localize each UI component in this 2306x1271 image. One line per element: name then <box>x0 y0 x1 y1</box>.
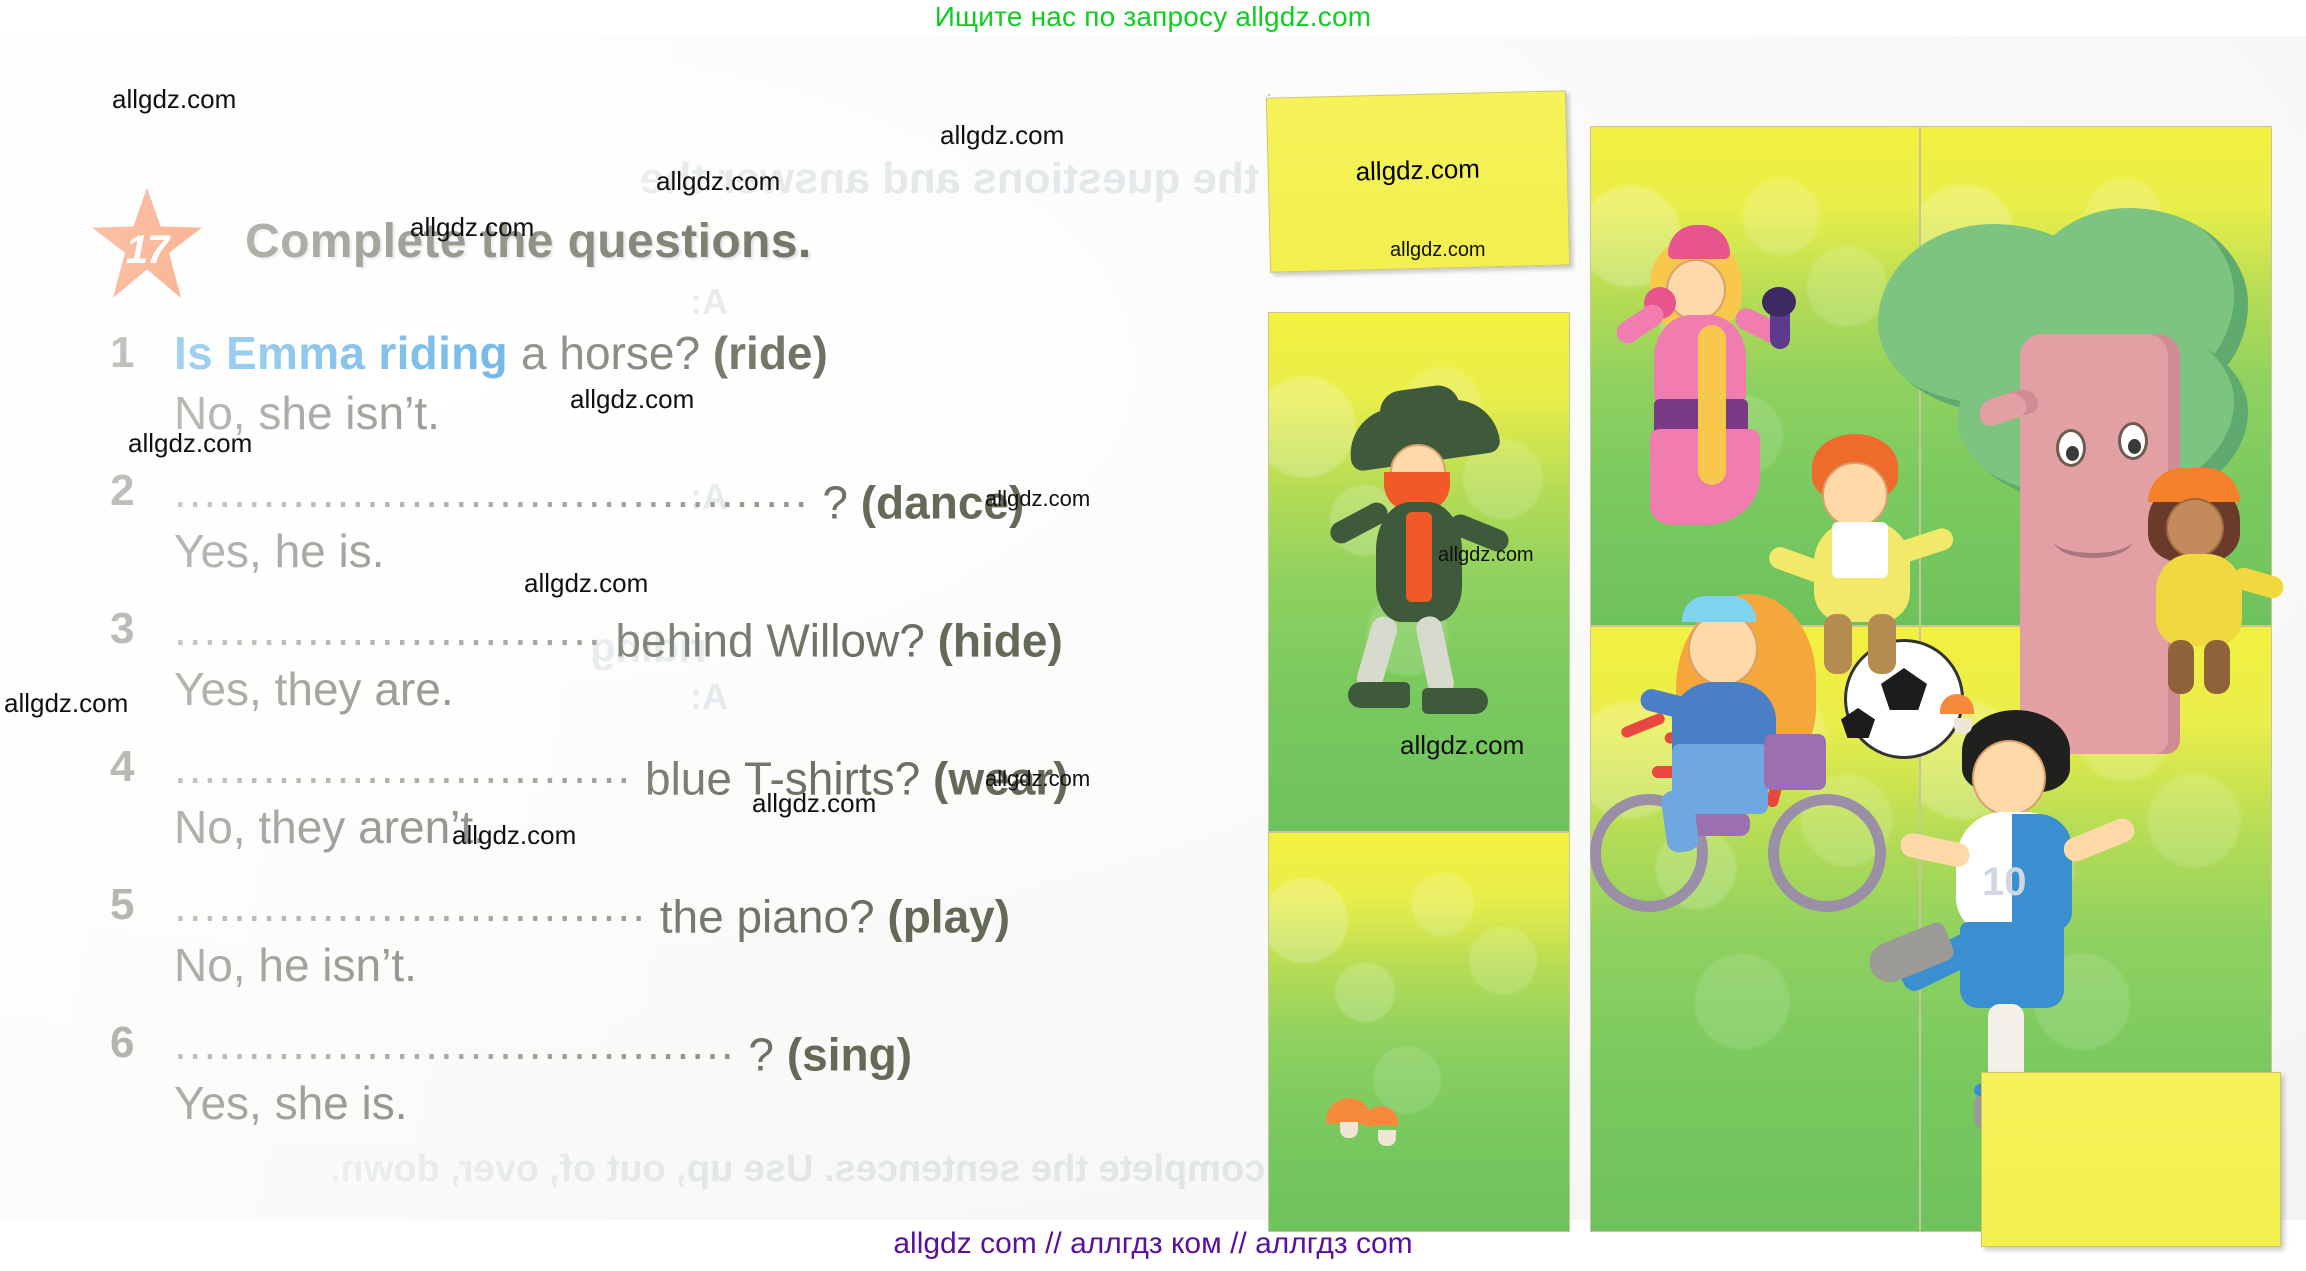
illustration-park-scene: 10 allgdz.com <box>1268 94 2278 1244</box>
question-rest-text: ? <box>810 476 861 528</box>
site-watermark: allgdz.com <box>1438 544 1534 567</box>
scanned-workbook-page: the questions and answer theA:A:A:riding… <box>0 36 2306 1220</box>
tile-spacer <box>1268 94 1270 96</box>
question-number: 3 <box>110 604 166 654</box>
question-row: 2.......................................… <box>110 464 1250 602</box>
sticky-note-watermark: allgdz.com <box>1268 151 1567 189</box>
site-watermark: allgdz.com <box>752 788 876 819</box>
ghost-text: A: <box>690 281 728 323</box>
page-root: Ищите нас по запросу allgdz.com the ques… <box>0 0 2306 1271</box>
question-row: 5................................ the pi… <box>110 878 1250 1016</box>
answer-text: Yes, she is. <box>174 1076 408 1130</box>
answer-text: Yes, they are. <box>174 662 454 716</box>
site-watermark: allgdz.com <box>128 428 252 459</box>
site-watermark: allgdz.com <box>524 568 648 599</box>
answer-blank-dots[interactable]: ............................. <box>174 602 603 656</box>
question-list: 1Is Emma riding a horse? (ride)No, she i… <box>110 326 1250 1154</box>
site-watermark: allgdz.com <box>985 766 1090 792</box>
exercise-number-star: 17 <box>92 188 202 298</box>
question-number: 6 <box>110 1018 166 1068</box>
site-promo-banner: Ищите нас по запросу allgdz.com <box>0 0 2306 36</box>
answer-blank-dots[interactable]: ........................................… <box>174 464 810 518</box>
girl-orange-cap-character <box>2128 464 2288 704</box>
question-prompt: ................................ the pia… <box>174 878 1250 944</box>
verb-cue: (hide) <box>938 614 1063 666</box>
site-watermark: allgdz.com <box>1400 730 1524 761</box>
question-prompt: Is Emma riding a horse? (ride) <box>174 326 1250 380</box>
site-watermark: allgdz.com <box>940 120 1064 151</box>
answer-blank-dots[interactable]: ............................... <box>174 740 632 794</box>
site-footer-text: allgdz com // аллгдз ком // аллгдз com <box>0 1220 2306 1271</box>
bottom-right-patch <box>1981 1072 2281 1247</box>
question-number: 2 <box>110 466 166 516</box>
shirt-number-label: 10 <box>1982 860 2036 900</box>
tile-left-lower <box>1268 832 1570 1232</box>
question-number: 5 <box>110 880 166 930</box>
site-watermark: allgdz.com <box>570 384 694 415</box>
question-row: 6...................................... … <box>110 1016 1250 1154</box>
verb-cue: (sing) <box>787 1028 912 1080</box>
site-watermark: allgdz.com <box>4 688 128 719</box>
site-watermark: allgdz.com <box>112 84 236 115</box>
question-row: 3............................. behind Wi… <box>110 602 1250 740</box>
answer-blank-dots[interactable]: ................................ <box>174 878 647 932</box>
site-watermark: allgdz.com <box>452 820 576 851</box>
question-rest-text: a horse? <box>521 327 713 379</box>
singing-girl-character <box>1610 229 1800 529</box>
question-rest-text: behind Willow? <box>603 614 938 666</box>
boy-yellow-shirt-character <box>1778 434 1968 684</box>
question-row: 4............................... blue T-… <box>110 740 1250 878</box>
site-watermark: allgdz.com <box>985 486 1090 512</box>
verb-cue: (ride) <box>713 327 828 379</box>
question-number: 1 <box>110 328 166 378</box>
site-watermark: allgdz.com <box>1390 239 1486 262</box>
verb-cue: (play) <box>887 890 1010 942</box>
question-prompt: ............................. behind Wil… <box>174 602 1250 668</box>
answer-text: No, they aren’t. <box>174 800 486 854</box>
site-watermark: allgdz.com <box>656 166 780 197</box>
question-rest-text: the piano? <box>647 890 887 942</box>
answer-text: No, he isn’t. <box>174 938 417 992</box>
question-prompt: ...................................... ?… <box>174 1016 1250 1082</box>
question-number: 4 <box>110 742 166 792</box>
question-rest-text: ? <box>736 1028 787 1080</box>
filled-answer-text: Is Emma riding <box>174 327 521 379</box>
site-watermark: allgdz.com <box>410 212 534 243</box>
answer-blank-dots[interactable]: ...................................... <box>174 1016 736 1070</box>
exercise-number-label: 17 <box>92 188 202 298</box>
answer-text: Yes, he is. <box>174 524 385 578</box>
